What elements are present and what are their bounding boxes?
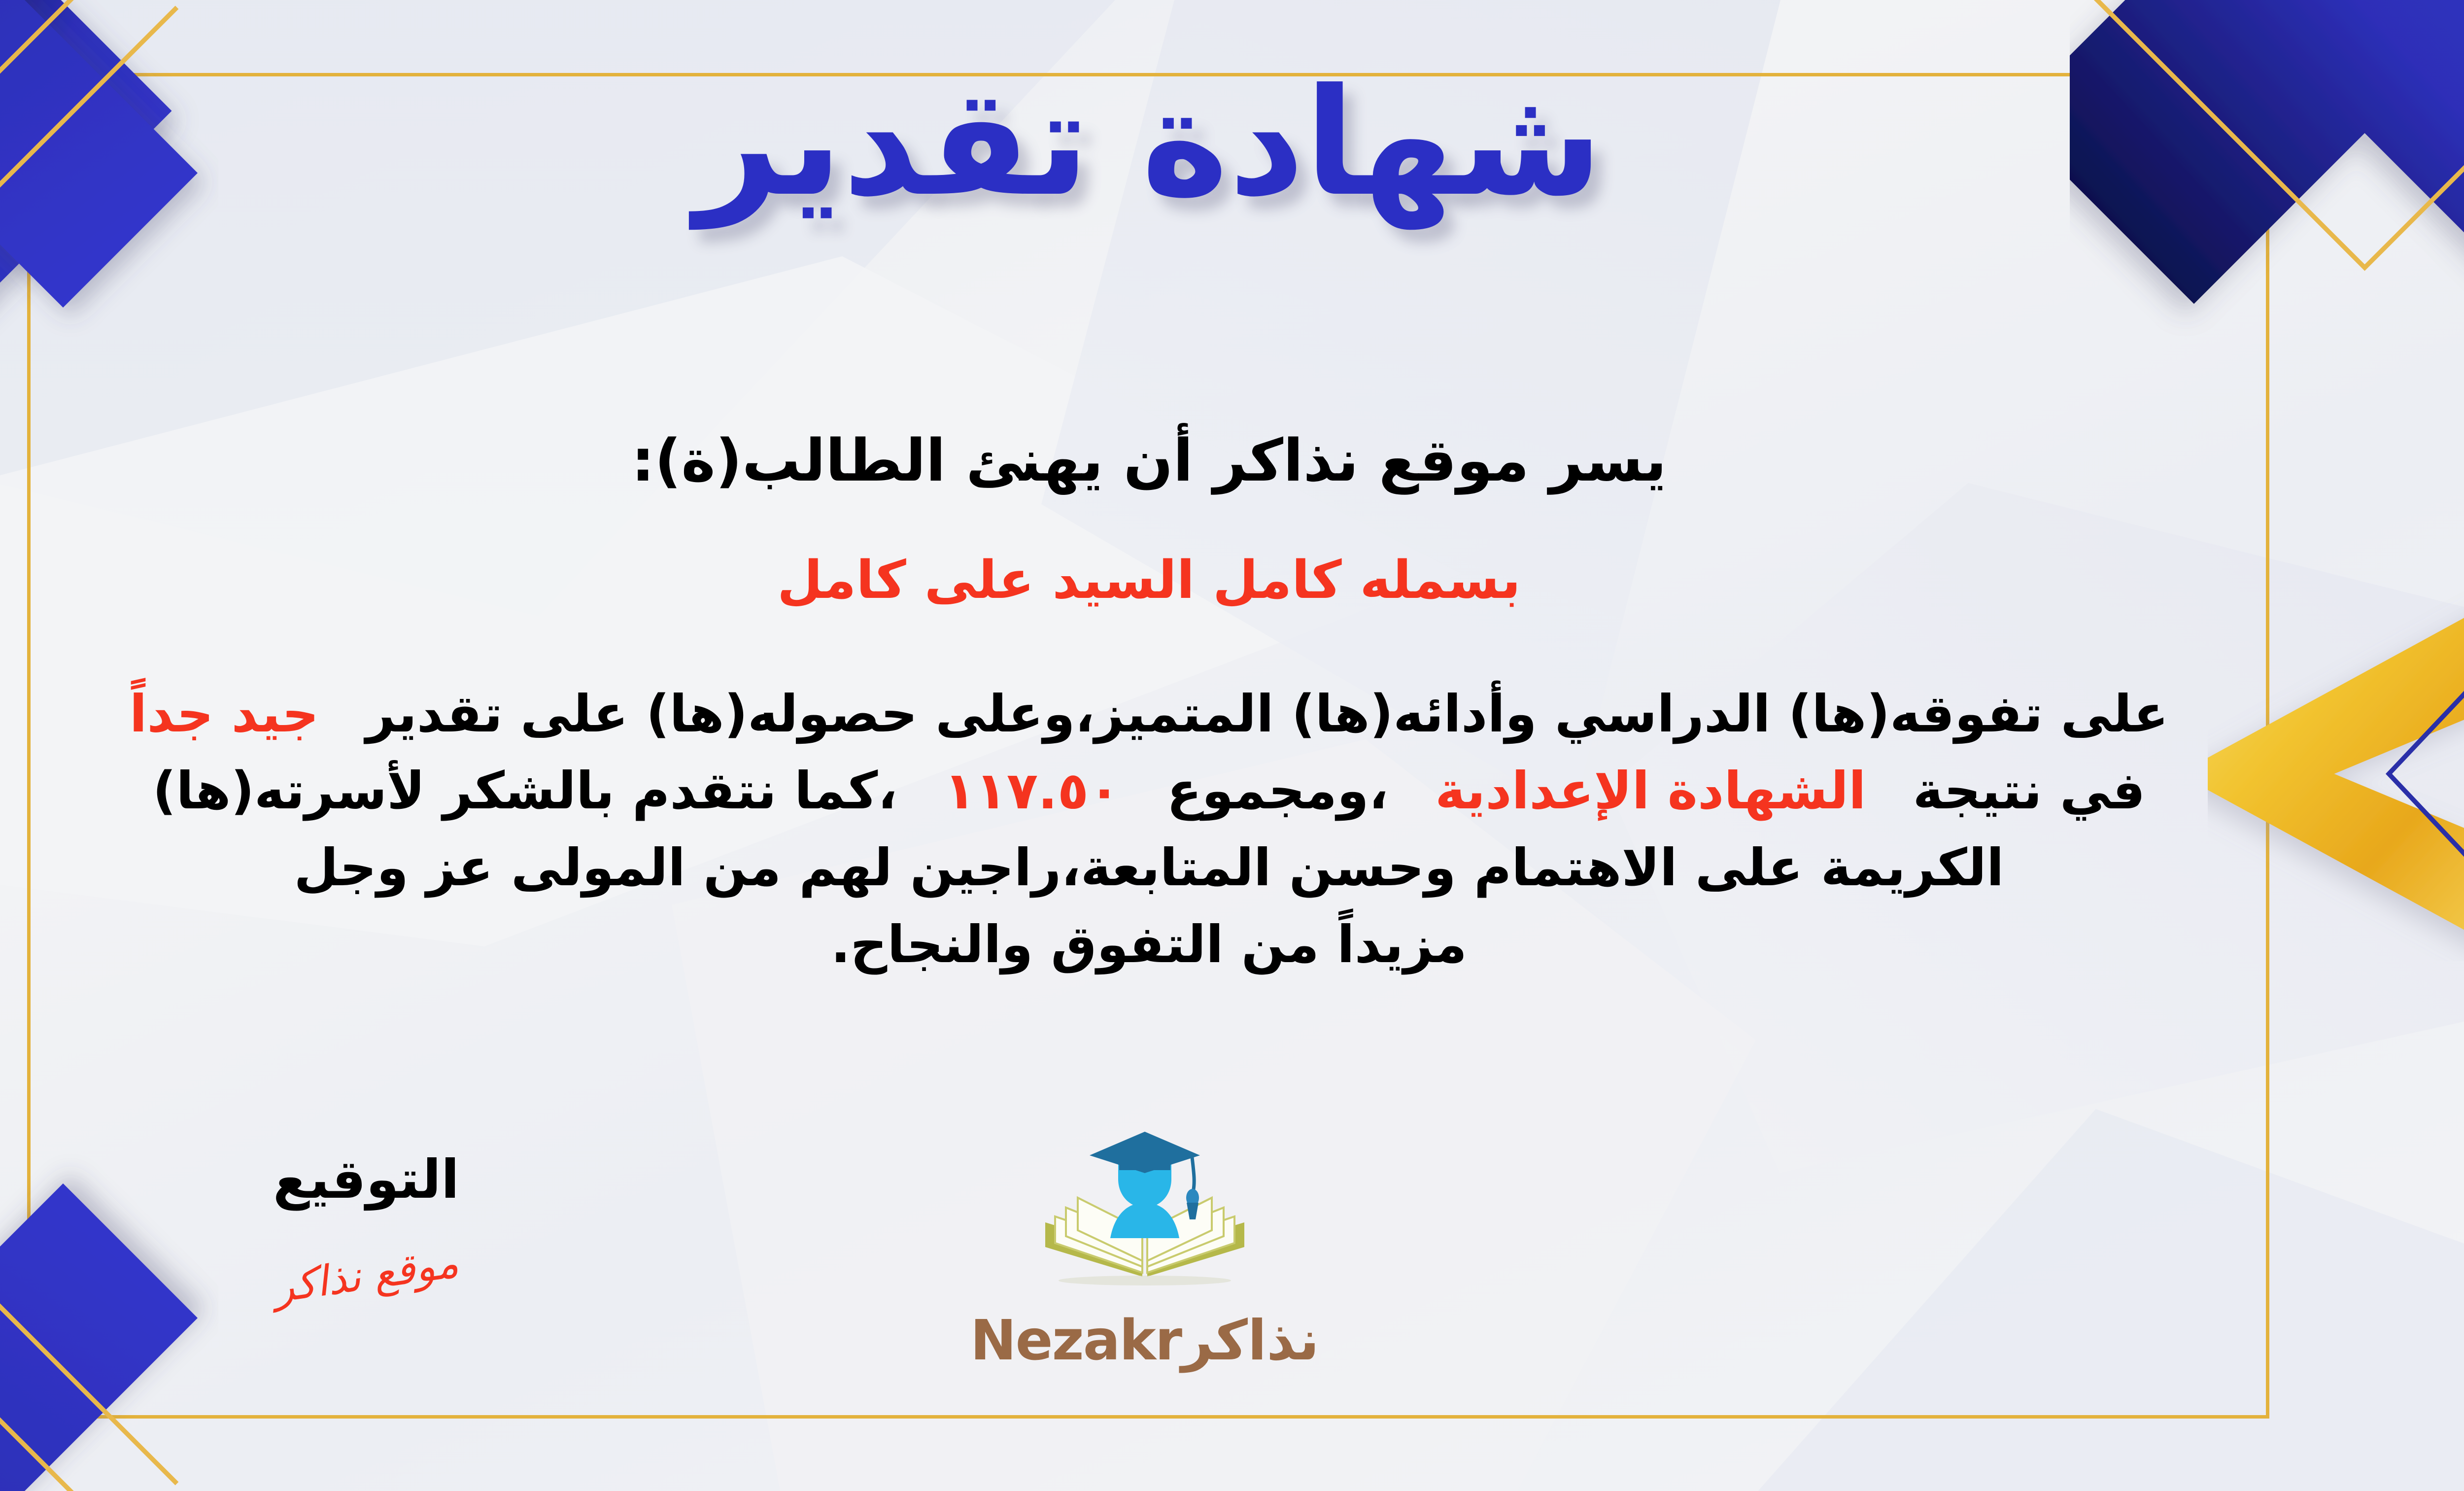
congratulation-line: يسر موقع نذاكر أن يهنئ الطالب(ة): [0, 426, 2464, 494]
student-name: بسمله كامل السيد على كامل [0, 550, 2464, 610]
grade-value: جيد جداً [130, 684, 366, 744]
page-title: شهادة تقدير [0, 69, 2464, 217]
certificate-body: على تفوقه(ها) الدراسي وأدائه(ها) المتميز… [0, 675, 2316, 983]
body-line-1: على تفوقه(ها) الدراسي وأدائه(ها) المتميز… [0, 675, 2316, 752]
certificate-page: شهادة تقدير يسر موقع نذاكر أن يهنئ الطال… [0, 0, 2464, 1491]
logo-text-arabic: نذاكر [1181, 1309, 1319, 1373]
body-line-4: مزيداً من التفوق والنجاح. [0, 906, 2316, 983]
signature-mark: موقع نذاكر [271, 1238, 461, 1312]
body-line-1-text: على تفوقه(ها) الدراسي وأدائه(ها) المتميز… [366, 684, 2168, 744]
body-line-3: الكريمة على الاهتمام وحسن المتابعة،راجين… [0, 829, 2316, 906]
graduate-book-logo-icon [1017, 1129, 1273, 1306]
body-line-2-middle: ،ومجموع [1167, 761, 1388, 821]
body-line-2-prefix: في نتيجة [1913, 761, 2146, 821]
body-line-2: في نتيجةالشهادة الإعدادية،ومجموع١١٧.٥٠،ك… [0, 752, 2316, 829]
brand-logo: نذاكرNezakr [943, 1129, 1347, 1370]
exam-name: الشهادة الإعدادية [1388, 761, 1913, 821]
logo-wordmark: نذاكرNezakr [943, 1312, 1347, 1370]
body-line-2-suffix: ،كما نتقدم بالشكر لأسرته(ها) [153, 761, 897, 821]
signature-label: التوقيع [208, 1153, 524, 1207]
logo-text-latin: Nezakr [970, 1309, 1181, 1373]
signature-block: التوقيع موقع نذاكر [208, 1153, 524, 1299]
total-score: ١١٧.٥٠ [897, 761, 1167, 821]
